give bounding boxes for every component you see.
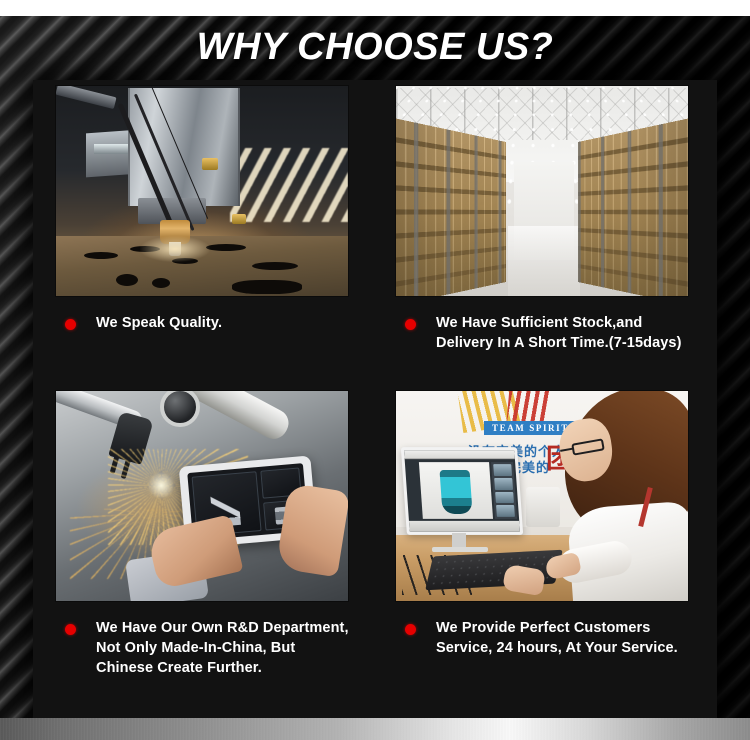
- red-dot-icon: [405, 319, 416, 330]
- cad-thumbnail: [493, 464, 512, 476]
- robotics-rnd-photo: [55, 390, 349, 602]
- cad-thumbnail: [495, 491, 514, 503]
- sheet-hole: [232, 280, 302, 294]
- feature-caption: We Have Our Own R&D Department, Not Only…: [55, 618, 355, 678]
- cad-thumbnail: [496, 505, 515, 517]
- feature-caption: We Speak Quality.: [55, 313, 355, 333]
- top-white-edge: [0, 0, 750, 16]
- warehouse-scene: [396, 86, 688, 296]
- brass-fitting: [202, 158, 218, 170]
- desktop-monitor: [401, 447, 523, 535]
- feature-text: We Provide Perfect Customers Service, 24…: [436, 618, 695, 658]
- sheet-hole: [252, 262, 298, 270]
- laser-glow: [140, 236, 210, 262]
- laser-head-body: [128, 88, 240, 206]
- feature-cell-stock-delivery: We Have Sufficient Stock,and Delivery In…: [395, 85, 695, 390]
- red-dot-icon: [65, 624, 76, 635]
- warehouse-photo: [395, 85, 689, 297]
- monitor-base: [432, 547, 488, 552]
- feature-text: We Have Our Own R&D Department, Not Only…: [96, 618, 355, 678]
- cad-side-panel: [491, 462, 517, 519]
- brass-fitting: [232, 214, 246, 224]
- cut-parts-blur: [230, 148, 348, 222]
- red-dot-icon: [405, 624, 416, 635]
- sheet-hole: [84, 252, 118, 259]
- cad-toolbar: [404, 450, 515, 459]
- office-printer: [526, 487, 560, 527]
- why-choose-us-banner: WHY CHOOSE US?: [0, 0, 750, 740]
- robot-joint: [160, 390, 200, 427]
- laser-side-arm: [55, 85, 116, 109]
- robotics-scene: [56, 391, 348, 601]
- feature-caption: We Provide Perfect Customers Service, 24…: [395, 618, 695, 658]
- feature-cell-rnd: We Have Our Own R&D Department, Not Only…: [55, 390, 355, 718]
- laser-scene: [56, 86, 348, 296]
- red-dot-icon: [65, 319, 76, 330]
- desk-scene: TEAM SPIRIT 没有完美的个人 只有完美的 团队: [396, 391, 688, 601]
- cad-viewport: [419, 462, 493, 519]
- feature-cell-customer-service: TEAM SPIRIT 没有完美的个人 只有完美的 团队: [395, 390, 695, 718]
- bottom-metal-bar: [0, 718, 750, 740]
- customer-service-photo: TEAM SPIRIT 没有完美的个人 只有完美的 团队: [395, 390, 689, 602]
- feature-grid: We Speak Quality.: [33, 80, 717, 718]
- sheet-hole: [116, 274, 138, 286]
- feature-cell-quality: We Speak Quality.: [55, 85, 355, 390]
- feature-text: We Speak Quality.: [96, 313, 222, 333]
- content-panel: We Speak Quality.: [33, 80, 717, 718]
- feature-text: We Have Sufficient Stock,and Delivery In…: [436, 313, 695, 353]
- laser-cutting-machine-photo: [55, 85, 349, 297]
- page-title: WHY CHOOSE US?: [0, 26, 750, 69]
- cad-status-bar: [409, 521, 520, 532]
- feature-caption: We Have Sufficient Stock,and Delivery In…: [395, 313, 695, 353]
- pump-3d-model: [439, 470, 472, 514]
- cad-thumbnail: [494, 478, 513, 490]
- sheet-hole: [152, 278, 170, 288]
- warehouse-aisle: [508, 226, 580, 296]
- monitor-screen: [404, 450, 520, 532]
- sheet-hole: [206, 244, 246, 251]
